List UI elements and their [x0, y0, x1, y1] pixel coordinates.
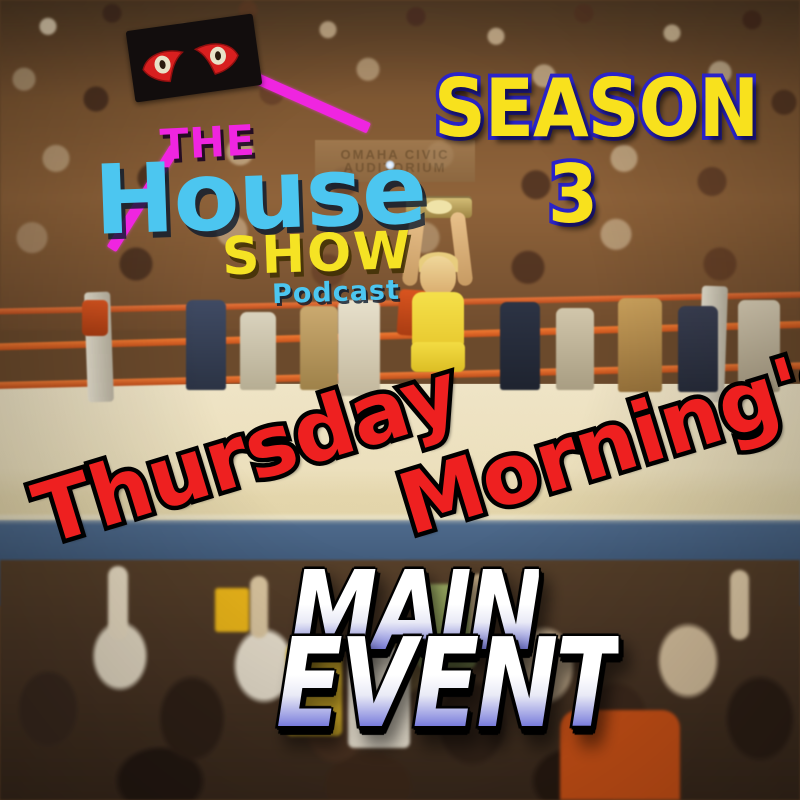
season-label: SEASON: [434, 61, 758, 155]
mask-eye-right: [191, 36, 242, 77]
main-event-line-event: EVENT: [276, 612, 619, 755]
brand-podcast: Podcast: [271, 275, 400, 310]
main-event-lockup: MAIN EVENT: [276, 548, 796, 778]
season-number: 3: [548, 147, 598, 241]
podcast-cover-art: OMAHA CIVIC AUDITORIUM: [0, 0, 800, 800]
